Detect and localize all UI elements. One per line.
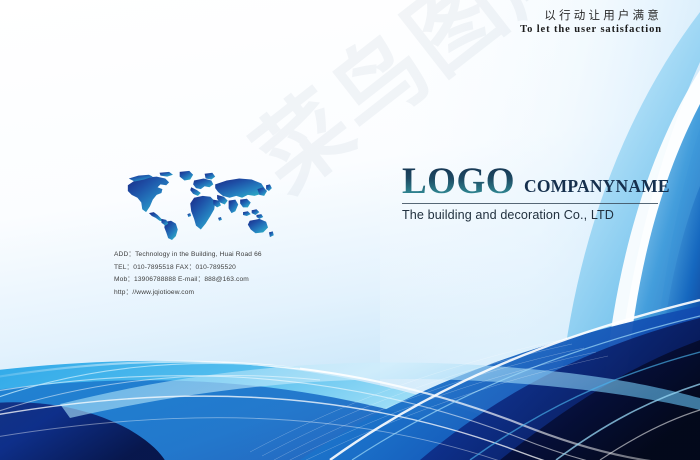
world-map-graphic: [117, 168, 275, 240]
contact-info-block: ADD：Technology in the Building, Huai Roa…: [114, 249, 262, 300]
logo-divider: [402, 203, 658, 204]
company-tagline: The building and decoration Co., LTD: [402, 208, 670, 222]
contact-mobile-email: Mob：13906788888 E-mail：888@163.com: [114, 274, 262, 287]
slogan-english: To let the user satisfaction: [520, 23, 662, 36]
logo-row: LOGO COMPANYNAME: [402, 163, 670, 200]
brochure-cover-page: 菜鸟图库 以行动让用户满意 To let the user satisfacti…: [0, 0, 700, 460]
logo-wordmark: LOGO: [402, 163, 515, 200]
header-slogan: 以行动让用户满意 To let the user satisfaction: [520, 8, 662, 37]
contact-website: http：//www.jqiotioew.com: [114, 287, 262, 300]
contact-address: ADD：Technology in the Building, Huai Roa…: [114, 249, 262, 262]
logo-block: LOGO COMPANYNAME The building and decora…: [402, 163, 670, 222]
company-name: COMPANYNAME: [524, 178, 670, 196]
slogan-chinese: 以行动让用户满意: [520, 8, 662, 22]
world-map-icon: [117, 168, 275, 240]
contact-tel-fax: TEL：010-7895518 FAX：010-7895520: [114, 262, 262, 275]
